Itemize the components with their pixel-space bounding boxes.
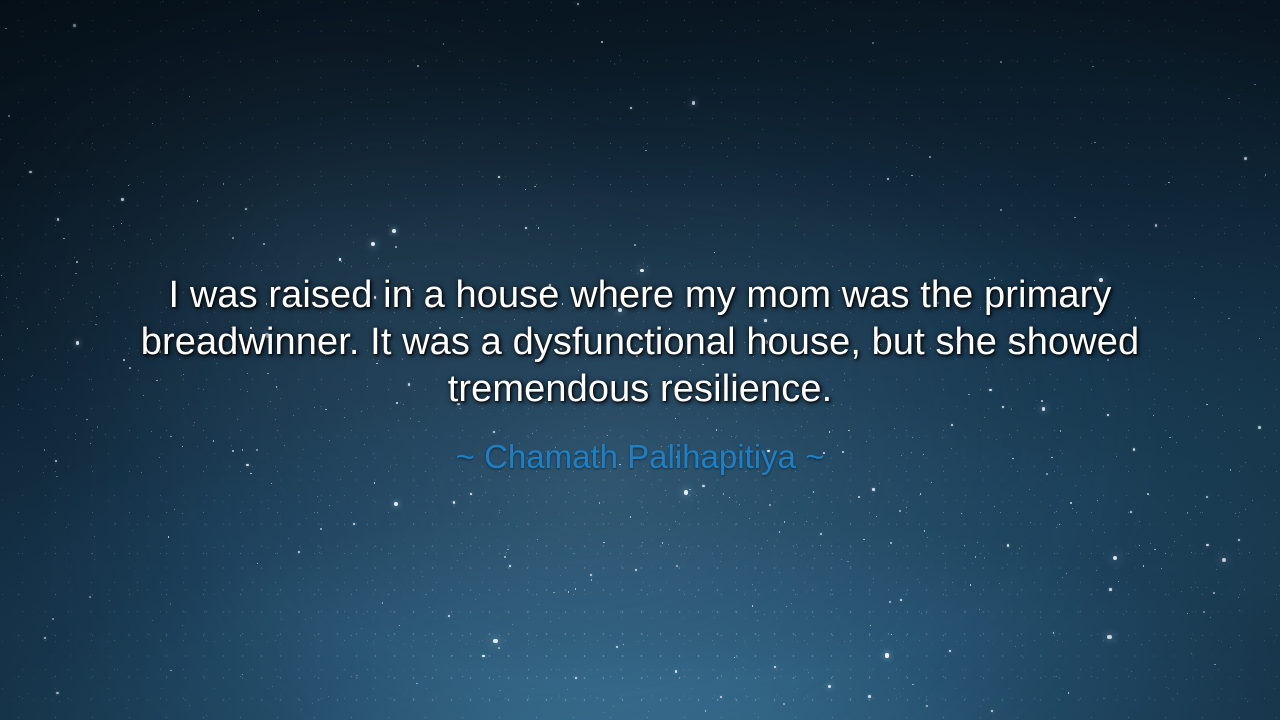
quote-text: I was raised in a house where my mom was…: [96, 272, 1184, 413]
quote-block: I was raised in a house where my mom was…: [0, 272, 1280, 413]
quote-card: I was raised in a house where my mom was…: [0, 0, 1280, 720]
quote-attribution: ~ Chamath Palihapitiya ~: [0, 437, 1280, 477]
